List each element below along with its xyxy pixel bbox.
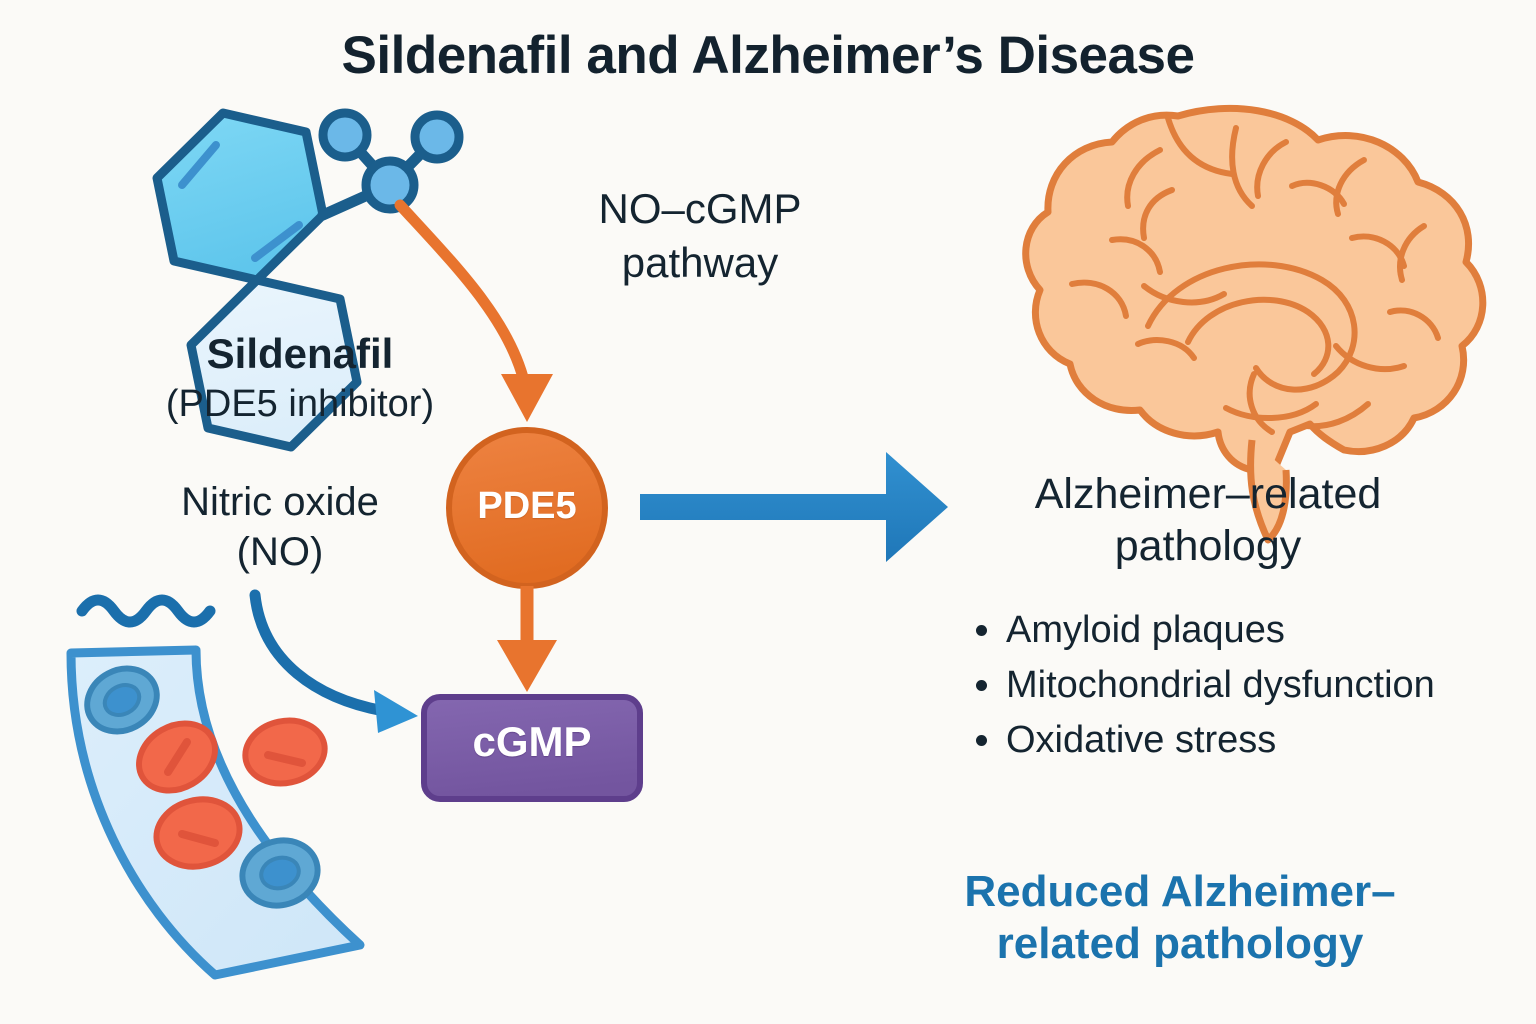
blood-vessel-icon (71, 600, 360, 975)
blue-curved-arrow-icon (255, 595, 418, 733)
pathology-heading: Alzheimer–related pathology (948, 468, 1468, 573)
list-item: Mitochondrial dysfunction (968, 663, 1468, 708)
sildenafil-label: Sildenafil (40, 330, 560, 377)
list-item: Amyloid plaques (968, 608, 1468, 653)
sildenafil-sublabel: (PDE5 inhibitor) (40, 383, 560, 426)
page-title: Sildenafil and Alzheimer’s Disease (0, 26, 1536, 85)
molecule-atom-right-icon (415, 115, 459, 159)
molecule-hexagon-top (157, 113, 323, 280)
molecule-atom-center-icon (366, 161, 414, 209)
pathway-label: NO–cGMP pathway (500, 182, 900, 290)
list-item: Oxidative stress (968, 718, 1468, 763)
vessel-red-cell-2 (239, 713, 330, 790)
molecule-atom-left-icon (323, 113, 367, 157)
blue-right-arrow-icon (640, 452, 948, 562)
conclusion-text: Reduced Alzheimer– related pathology (900, 866, 1460, 970)
diagram-canvas: Sildenafil and Alzheimer’s Disease Silde… (0, 0, 1536, 1024)
signal-wave-icon (82, 600, 210, 622)
orange-down-arrow-icon (497, 586, 557, 692)
pathology-bullet-list: Amyloid plaques Mitochondrial dysfunctio… (968, 608, 1468, 772)
pde5-node-label: PDE5 (437, 485, 617, 528)
cgmp-node-label: cGMP (428, 718, 636, 765)
